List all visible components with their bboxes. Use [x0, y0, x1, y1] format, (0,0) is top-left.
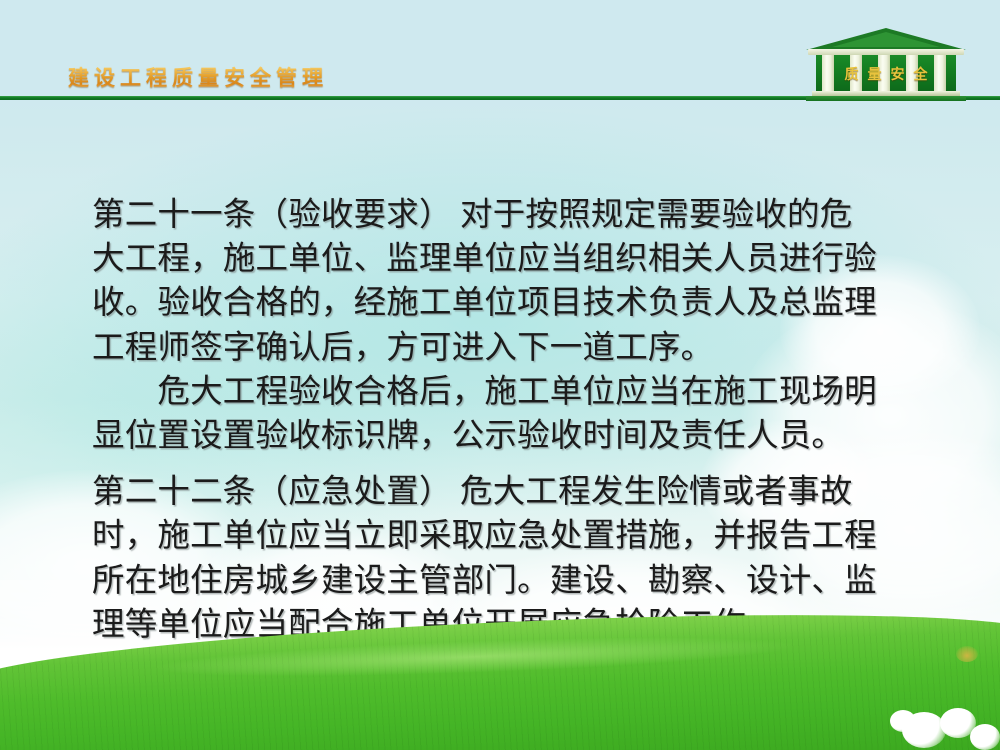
text-line: 时，施工单位应当立即采取应急处置措施，并报告工程 [92, 514, 932, 558]
quality-safety-temple-logo: 质量安全 [806, 28, 966, 100]
text-line: 收。验收合格的，经施工单位项目技术负责人及总监理 [92, 281, 932, 325]
text-line: 工程师签字确认后，方可进入下一道工序。 [92, 326, 932, 370]
text-line: 第二十一条（验收要求） 对于按照规定需要验收的危 [92, 193, 932, 237]
text-line: 显位置设置验收标识牌，公示验收时间及责任人员。 [92, 414, 932, 458]
grass-texture [0, 615, 1000, 750]
footer-grass-decoration [0, 615, 1000, 750]
white-flower-decoration [970, 724, 1000, 750]
text-line: 所在地住房城乡建设主管部门。建设、勘察、设计、监 [92, 559, 932, 603]
paragraph-article-21-note: 危大工程验收合格后，施工单位应当在施工现场明 显位置设置验收标识牌，公示验收时间… [92, 370, 932, 458]
white-flower-decoration [902, 712, 946, 748]
slide-canvas: 建设工程质量安全管理 质量安全 第二十一条（验收要求） 对于按照规定需要验收的危… [0, 0, 1000, 750]
logo-label: 质量安全 [816, 64, 956, 84]
text-line: 危大工程验收合格后，施工单位应当在施工现场明 [92, 370, 932, 414]
paragraph-article-21: 第二十一条（验收要求） 对于按照规定需要验收的危 大工程，施工单位、监理单位应当… [92, 193, 932, 370]
grass-field [0, 615, 1000, 750]
temple-roof-highlight-icon [832, 32, 940, 47]
sprout-decoration [956, 646, 978, 662]
slide-header-title: 建设工程质量安全管理 [68, 62, 328, 92]
temple-base-icon [806, 96, 966, 101]
slide-body-text: 第二十一条（验收要求） 对于按照规定需要验收的危 大工程，施工单位、监理单位应当… [92, 193, 932, 647]
paragraph-spacer [92, 458, 932, 470]
text-line: 大工程，施工单位、监理单位应当组织相关人员进行验 [92, 237, 932, 281]
text-line: 第二十二条（应急处置） 危大工程发生险情或者事故 [92, 470, 932, 514]
